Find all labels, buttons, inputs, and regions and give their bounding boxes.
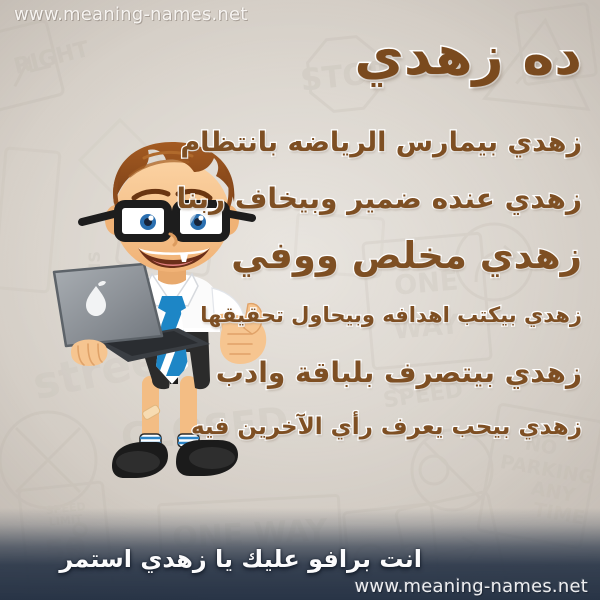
tagline: انت برافو عليك يا زهدي استمر [59,545,422,573]
trait-line-6: زهدي بيحب يعرف رأي الآخرين فيه [191,414,582,440]
trait-line-2: زهدي عنده ضمير وبيخاف ربنا [177,182,582,215]
trait-line-1: زهدي بيمارس الرياضه بانتظام [180,127,582,158]
trait-line-4: زهدي بيكتب اهدافه وبيحاول تحقيقها [200,303,582,327]
page-title: ده زهدي [354,28,582,85]
trait-line-5: زهدي بيتصرف بلباقة وادب [216,356,582,389]
trait-line-3: زهدي مخلص ووفي [231,234,582,277]
watermark-bottom: www.meaning-names.net [355,576,589,597]
watermark-top: www.meaning-names.net [14,4,248,25]
poster-canvas: STOP ONE WAY ONE WAY NO PARKING ANY TIME… [0,0,600,600]
